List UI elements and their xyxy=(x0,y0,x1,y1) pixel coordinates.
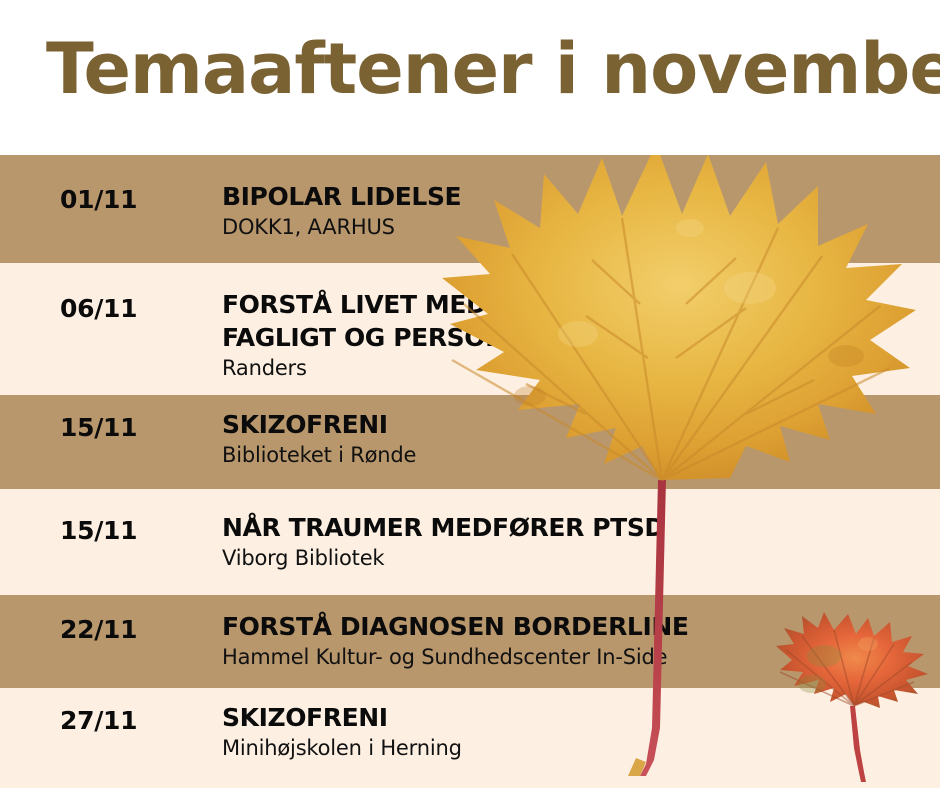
poster-canvas: 01/11 BIPOLAR LIDELSE DOKK1, AARHUS 06/1… xyxy=(0,0,940,788)
row-venue: DOKK1, AARHUS xyxy=(222,213,930,241)
row-venue: Minihøjskolen i Herning xyxy=(222,734,930,762)
row-body: SKIZOFRENI Minihøjskolen i Herning xyxy=(222,701,930,762)
row-venue: Biblioteket i Rønde xyxy=(222,441,930,469)
row-venue: Randers xyxy=(222,354,930,382)
table-row: 15/11 NÅR TRAUMER MEDFØRER PTSD Viborg B… xyxy=(0,489,940,595)
row-body: FORSTÅ LIVET MED AUTISME UD FRA ET FAGLI… xyxy=(222,288,930,382)
row-body: SKIZOFRENI Biblioteket i Rønde xyxy=(222,408,930,469)
page-title: Temaaftener i november xyxy=(46,24,940,114)
table-row: 22/11 FORSTÅ DIAGNOSEN BORDERLINE Hammel… xyxy=(0,595,940,688)
row-title: NÅR TRAUMER MEDFØRER PTSD xyxy=(222,511,930,544)
row-title: BIPOLAR LIDELSE xyxy=(222,180,930,213)
row-title: SKIZOFRENI xyxy=(222,408,930,441)
table-row: 15/11 SKIZOFRENI Biblioteket i Rønde xyxy=(0,395,940,489)
row-date: 15/11 xyxy=(60,516,137,545)
table-row: 01/11 BIPOLAR LIDELSE DOKK1, AARHUS xyxy=(0,155,940,263)
row-venue: Hammel Kultur- og Sundhedscenter In-Side xyxy=(222,643,930,671)
row-body: BIPOLAR LIDELSE DOKK1, AARHUS xyxy=(222,180,930,241)
row-date: 15/11 xyxy=(60,413,137,442)
table-row: 06/11 FORSTÅ LIVET MED AUTISME UD FRA ET… xyxy=(0,263,940,395)
row-title: FORSTÅ LIVET MED AUTISME UD FRA ET xyxy=(222,288,930,321)
row-date: 27/11 xyxy=(60,706,137,735)
row-date: 22/11 xyxy=(60,615,137,644)
row-body: NÅR TRAUMER MEDFØRER PTSD Viborg Bibliot… xyxy=(222,511,930,572)
row-date: 06/11 xyxy=(60,294,137,323)
header-band: Temaaftener i november xyxy=(0,0,940,155)
row-venue: Viborg Bibliotek xyxy=(222,544,930,572)
row-title-continued: FAGLIGT OG PERSONLIGT PERSPEKTIV xyxy=(222,321,930,354)
row-body: FORSTÅ DIAGNOSEN BORDERLINE Hammel Kultu… xyxy=(222,610,930,671)
row-title: FORSTÅ DIAGNOSEN BORDERLINE xyxy=(222,610,930,643)
row-date: 01/11 xyxy=(60,185,137,214)
table-row: 27/11 SKIZOFRENI Minihøjskolen i Herning xyxy=(0,688,940,788)
row-title: SKIZOFRENI xyxy=(222,701,930,734)
